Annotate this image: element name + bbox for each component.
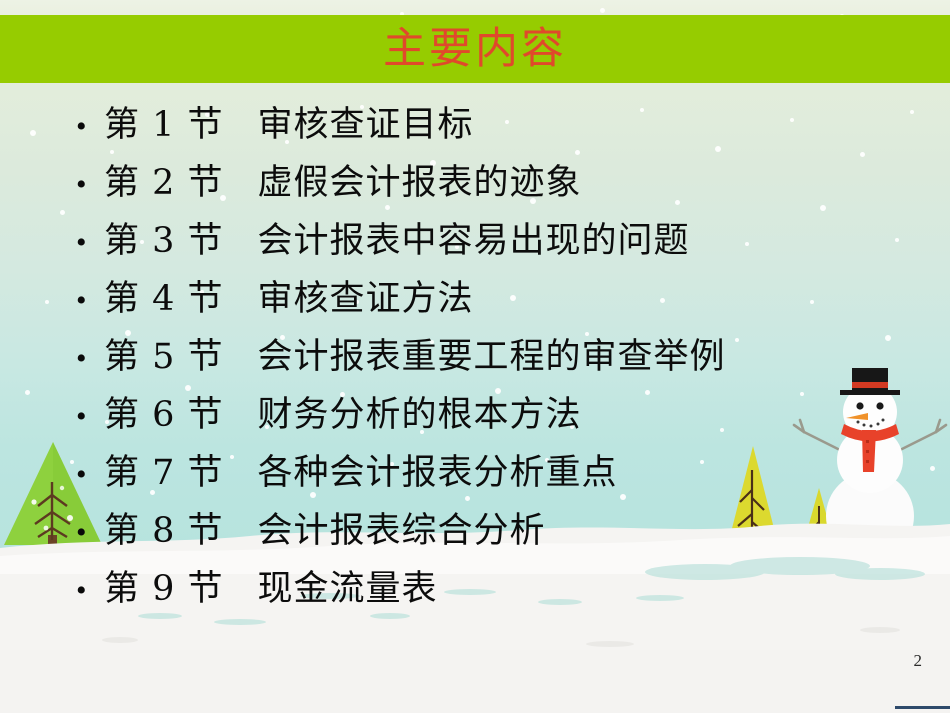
list-item-label: 第 5 节会计报表重要工程的审查举例 (104, 328, 726, 379)
section-number: 第 3 节 (104, 221, 224, 261)
section-title: 会计报表综合分析 (258, 511, 546, 551)
corner-rule (895, 706, 950, 709)
section-title: 审核查证方法 (258, 279, 474, 319)
bullet-dot-icon: • (70, 402, 104, 432)
section-number: 第 7 节 (104, 453, 224, 493)
bullet-dot-icon: • (70, 170, 104, 200)
section-number: 第 1 节 (104, 105, 224, 145)
list-item-label: 第 2 节虚假会计报表的迹象 (104, 154, 582, 205)
bullet-list: •第 1 节审核查证目标•第 2 节虚假会计报表的迹象•第 3 节会计报表中容易… (70, 96, 930, 618)
bullet-dot-icon: • (70, 518, 104, 548)
list-item[interactable]: •第 5 节会计报表重要工程的审查举例 (70, 328, 930, 386)
list-item[interactable]: •第 8 节会计报表综合分析 (70, 502, 930, 560)
slide-canvas: 主要内容 •第 1 节审核查证目标•第 2 节虚假会计报表的迹象•第 3 节会计… (0, 0, 950, 713)
list-item[interactable]: •第 3 节会计报表中容易出现的问题 (70, 212, 930, 270)
list-item[interactable]: •第 1 节审核查证目标 (70, 96, 930, 154)
list-item-label: 第 7 节各种会计报表分析重点 (104, 444, 618, 495)
section-title: 各种会计报表分析重点 (258, 453, 618, 493)
section-title: 财务分析的根本方法 (258, 395, 582, 435)
bullet-dot-icon: • (70, 344, 104, 374)
list-item[interactable]: •第 4 节审核查证方法 (70, 270, 930, 328)
bullet-dot-icon: • (70, 112, 104, 142)
list-item[interactable]: •第 6 节财务分析的根本方法 (70, 386, 930, 444)
list-item-label: 第 1 节审核查证目标 (104, 96, 474, 147)
bullet-dot-icon: • (70, 460, 104, 490)
list-item-label: 第 4 节审核查证方法 (104, 270, 474, 321)
section-title: 现金流量表 (258, 569, 438, 609)
list-item-label: 第 9 节现金流量表 (104, 560, 438, 611)
sky-top-strip (0, 0, 950, 16)
section-number: 第 4 节 (104, 279, 224, 319)
section-title: 会计报表重要工程的审查举例 (258, 337, 726, 377)
list-item[interactable]: •第 2 节虚假会计报表的迹象 (70, 154, 930, 212)
bullet-dot-icon: • (70, 286, 104, 316)
slide-title: 主要内容 (0, 15, 950, 83)
list-item-label: 第 8 节会计报表综合分析 (104, 502, 546, 553)
page-number: 2 (914, 651, 923, 671)
bullet-dot-icon: • (70, 228, 104, 258)
list-item[interactable]: •第 7 节各种会计报表分析重点 (70, 444, 930, 502)
list-item[interactable]: •第 9 节现金流量表 (70, 560, 930, 618)
section-number: 第 2 节 (104, 163, 224, 203)
section-title: 会计报表中容易出现的问题 (258, 221, 690, 261)
section-number: 第 5 节 (104, 337, 224, 377)
section-title: 虚假会计报表的迹象 (258, 163, 582, 203)
section-title: 审核查证目标 (258, 105, 474, 145)
section-number: 第 6 节 (104, 395, 224, 435)
list-item-label: 第 3 节会计报表中容易出现的问题 (104, 212, 690, 263)
bullet-dot-icon: • (70, 576, 104, 606)
section-number: 第 8 节 (104, 511, 224, 551)
list-item-label: 第 6 节财务分析的根本方法 (104, 386, 582, 437)
section-number: 第 9 节 (104, 569, 224, 609)
